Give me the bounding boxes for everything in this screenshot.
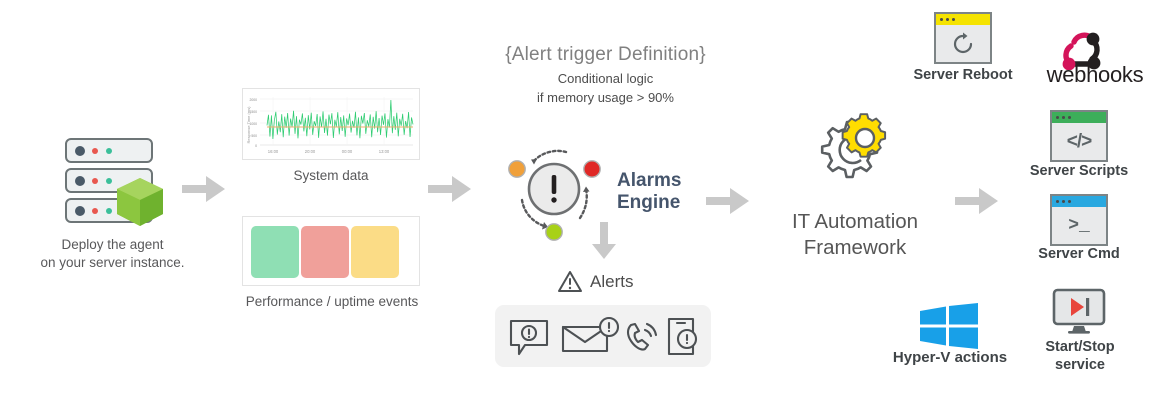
rack-unit [65,138,153,163]
warning-triangle-icon [557,270,583,294]
deploy-caption-line1: Deploy the agent [20,236,205,254]
window-body: </> [1052,123,1106,160]
refresh-arrow-icon [950,31,976,57]
email-alert-icon [563,318,618,351]
gears-icon [810,108,898,201]
alert-channels-box [495,305,711,367]
start-stop-label-line2: service [1016,356,1144,374]
window-code-icon: </> [1050,110,1108,162]
server-reboot-label: Server Reboot [890,66,1036,84]
arrow-deploy-to-data [182,174,226,204]
status-led-teal [106,148,112,154]
deploy-caption: Deploy the agent on your server instance… [20,236,205,272]
status-led-dark [75,176,85,186]
it-automation-framework-label: IT Automation Framework [760,209,950,260]
trigger-line1: Conditional logic [478,70,733,89]
phone-call-icon [628,324,656,350]
agent-cube-icon [117,178,163,226]
status-led-teal [106,178,112,184]
svg-text:13:00: 13:00 [379,149,390,154]
chat-alert-icon [511,321,547,354]
server-scripts-label: Server Scripts [1008,162,1150,180]
alerts-heading: Alerts [557,270,633,294]
hyperv-label: Hyper-V actions [876,349,1024,366]
svg-text:16:00: 16:00 [268,149,279,154]
window-refresh-icon [934,12,992,64]
event-block-red [301,226,349,278]
arrow-alarms-to-alerts [590,222,618,265]
server-rack-icon [65,138,161,226]
window-terminal-icon: >_ [1050,194,1108,246]
svg-text:500: 500 [251,134,257,138]
server-cmd-label: Server Cmd [1010,245,1148,263]
performance-events-card [242,216,420,286]
itaf-label-line2: Framework [760,235,950,261]
alarm-lamp-orange [509,161,525,177]
status-led-dark [75,146,85,156]
itaf-label-line1: IT Automation [760,209,950,235]
svg-text:0: 0 [255,144,257,148]
deploy-caption-line2: on your server instance. [20,254,205,272]
code-glyph: </> [1067,131,1091,153]
alarm-lamp-red [584,161,600,177]
arrow-automation-to-actions [955,186,999,216]
diagram-canvas: Deploy the agent on your server instance… [0,0,1159,402]
mobile-alert-icon [669,319,696,354]
alarms-label-line1: Alarms [617,170,681,192]
event-block-green [251,226,299,278]
arrow-data-to-alarms [428,174,472,204]
svg-text:Response Time (ms): Response Time (ms) [246,106,251,144]
performance-events-caption: Performance / uptime events [232,293,432,311]
window-titlebar [1052,196,1106,207]
svg-text:00:00: 00:00 [342,149,353,154]
monitor-play-icon [1051,288,1107,339]
trigger-title: {Alert trigger Definition} [478,44,733,66]
svg-text:20:00: 20:00 [305,149,316,154]
alarm-lamp-green [546,224,562,240]
alerts-label: Alerts [590,272,633,292]
server-scripts-action[interactable]: </> [1050,110,1108,162]
response-time-chart: 2000 1500 1000 500 0 Response Time (ms) [243,89,421,161]
start-stop-label: Start/Stop service [1016,338,1144,374]
webhooks-label: webhooks [1035,62,1155,88]
window-body: >_ [1052,207,1106,244]
svg-text:2000: 2000 [249,98,257,102]
window-titlebar [1052,112,1106,123]
status-led-red [92,178,98,184]
server-cmd-action[interactable]: >_ [1050,194,1108,246]
alert-trigger-definition: {Alert trigger Definition} Conditional l… [478,44,733,108]
system-data-chart: 2000 1500 1000 500 0 Response Time (ms) [243,89,419,159]
windows-logo-icon [920,303,978,354]
server-reboot-action[interactable] [934,12,992,64]
status-led-red [92,148,98,154]
status-led-dark [75,206,85,216]
status-led-red [92,208,98,214]
trigger-line2: if memory usage > 90% [478,89,733,108]
start-stop-label-line1: Start/Stop [1016,338,1144,356]
window-titlebar [936,14,990,25]
terminal-glyph: >_ [1068,216,1090,236]
system-data-caption: System data [242,167,420,185]
alarms-label-line2: Engine [617,192,681,214]
alarms-engine-label: Alarms Engine [617,170,681,215]
window-body [936,25,990,62]
arrow-alarms-to-automation [706,186,750,216]
event-block-yellow [351,226,399,278]
status-led-teal [106,208,112,214]
system-data-card: 2000 1500 1000 500 0 Response Time (ms) [242,88,420,160]
